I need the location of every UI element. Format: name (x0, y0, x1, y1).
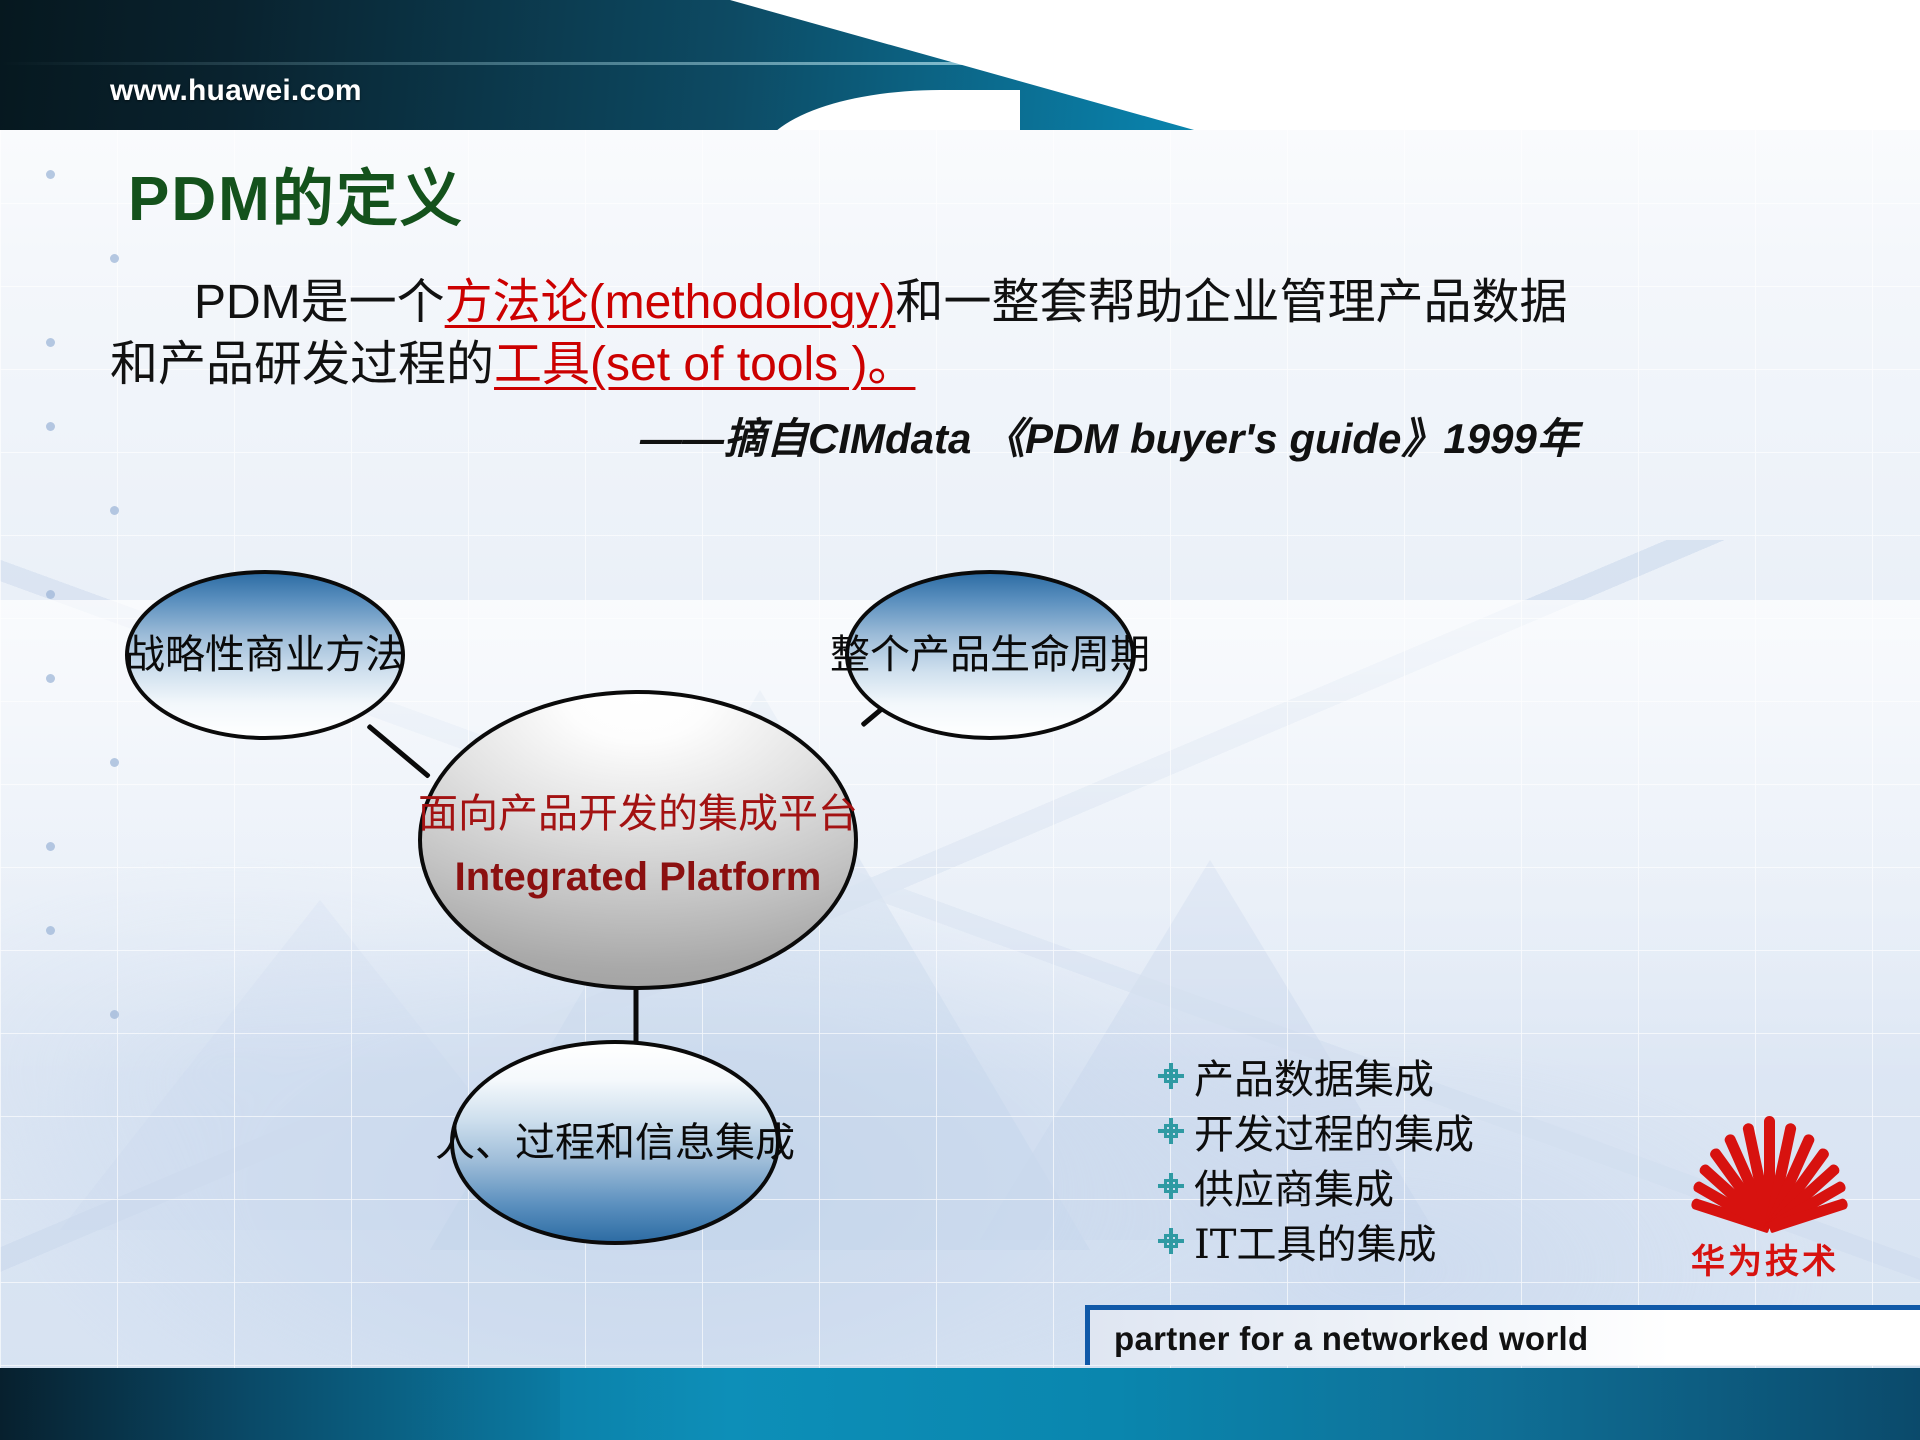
node-people-process-info[interactable]: 人、过程和信息集成 (450, 1040, 780, 1245)
node-center-label-en: Integrated Platform (455, 855, 822, 900)
crosshair-bullet-icon (1158, 1228, 1184, 1254)
crosshair-bullet-icon (1158, 1118, 1184, 1144)
node-lifecycle-label: 整个产品生命周期 (830, 632, 1150, 678)
crosshair-bullet-icon (1158, 1173, 1184, 1199)
grid-dot (46, 674, 55, 683)
node-people-label: 人、过程和信息集成 (435, 1120, 795, 1166)
node-product-lifecycle[interactable]: 整个产品生命周期 (845, 570, 1135, 740)
crosshair-bullet-icon (1158, 1063, 1184, 1089)
node-strategic-business-method[interactable]: 战略性商业方法 (125, 570, 405, 740)
footer-slogan-bar: partner for a networked world (1085, 1305, 1920, 1365)
grid-dot (46, 170, 55, 179)
definition-line2-pre: 和产品研发过程的 (110, 338, 494, 391)
grid-dot (46, 422, 55, 431)
grid-dot (46, 338, 55, 347)
list-item: 开发过程的集成 (1158, 1103, 1474, 1158)
definition-line1-post: 和一整套帮助企业管理产品数据 (896, 276, 1568, 329)
footer-strip (0, 1368, 1920, 1440)
huawei-logo: 华为技术 (1660, 1100, 1870, 1290)
slide-canvas: www.huawei.com PDM的定义 PDM是一个方法论(methodol… (0, 0, 1920, 1440)
website-url: www.huawei.com (110, 74, 362, 108)
definition-line1-pre: PDM是一个 (194, 276, 445, 329)
grid-dot (110, 506, 119, 515)
crosshair-bullet-square (1164, 1069, 1178, 1083)
footer-strip-left (0, 1368, 560, 1440)
page-title-en: PDM (128, 165, 272, 234)
node-strategy-label: 战略性商业方法 (125, 632, 405, 678)
definition-paragraph: PDM是一个方法论(methodology)和一整套帮助企业管理产品数据 和产品… (110, 272, 1830, 396)
crosshair-bullet-square (1164, 1124, 1178, 1138)
list-item-label: 供应商集成 (1194, 1157, 1394, 1215)
list-item-label: IT工具的集成 (1194, 1212, 1436, 1270)
crosshair-bullet-square (1164, 1234, 1178, 1248)
node-integrated-platform[interactable]: 面向产品开发的集成平台 Integrated Platform (418, 690, 858, 990)
huawei-logo-name: 华为技术 (1660, 1234, 1870, 1283)
top-banner: www.huawei.com (0, 0, 1920, 130)
crosshair-bullet-square (1164, 1179, 1178, 1193)
integration-bullet-list: 产品数据集成开发过程的集成供应商集成IT工具的集成 (1158, 1048, 1474, 1268)
list-item-label: 产品数据集成 (1194, 1047, 1434, 1105)
list-item: 供应商集成 (1158, 1158, 1474, 1213)
grid-dot (46, 926, 55, 935)
footer-slogan: partner for a networked world (1114, 1320, 1588, 1358)
page-title-cn: 的定义 (272, 162, 464, 235)
citation-source: ——摘自CIMdata 《PDM buyer's guide》1999年 (640, 405, 1880, 466)
list-item-label: 开发过程的集成 (1194, 1102, 1474, 1160)
list-item: 产品数据集成 (1158, 1048, 1474, 1103)
grid-dot (46, 842, 55, 851)
grid-dot (110, 1010, 119, 1019)
grid-dot (46, 590, 55, 599)
grid-dot (110, 758, 119, 767)
huawei-flower-icon (1676, 1100, 1856, 1228)
definition-methodology-highlight: 方法论(methodology) (445, 276, 896, 329)
node-center-label-cn: 面向产品开发的集成平台 (418, 781, 858, 839)
definition-tools-highlight: 工具(set of tools )。 (494, 338, 915, 391)
list-item: IT工具的集成 (1158, 1213, 1474, 1268)
page-title: PDM的定义 (128, 148, 464, 238)
grid-dot (110, 254, 119, 263)
